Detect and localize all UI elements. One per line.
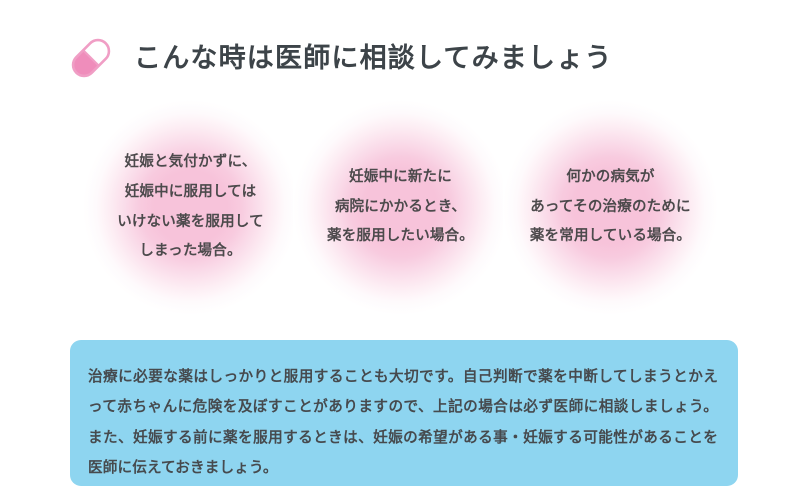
capsule-pill-icon — [66, 33, 116, 83]
case-circle-1: 妊娠と気付かずに、 妊娠中に服用しては いけない薬を服用して しまった場合。 — [83, 100, 298, 315]
case-text-2: 妊娠中に新たに 病院にかかるとき、 薬を服用したい場合。 — [327, 163, 474, 253]
advice-note-box: 治療に必要な薬はしっかりと服用することも大切です。自己判断で薬を中断してしまうと… — [70, 340, 738, 486]
case-text-1: 妊娠と気付かずに、 妊娠中に服用しては いけない薬を服用して しまった場合。 — [117, 148, 264, 267]
infographic-page: こんな時は医師に相談してみましょう 妊娠と気付かずに、 妊娠中に服用しては いけ… — [0, 0, 811, 501]
case-circle-3: 何かの病気が あってその治療のために 薬を常用している場合。 — [503, 100, 718, 315]
case-circle-2: 妊娠中に新たに 病院にかかるとき、 薬を服用したい場合。 — [293, 100, 508, 315]
page-title: こんな時は医師に相談してみましょう — [134, 45, 613, 72]
cases-group: 妊娠と気付かずに、 妊娠中に服用しては いけない薬を服用して しまった場合。 妊… — [0, 100, 811, 315]
case-text-3: 何かの病気が あってその治療のために 薬を常用している場合。 — [530, 163, 691, 253]
section-heading: こんな時は医師に相談してみましょう — [66, 30, 613, 86]
advice-note-text: 治療に必要な薬はしっかりと服用することも大切です。自己判断で薬を中断してしまうと… — [88, 362, 718, 483]
